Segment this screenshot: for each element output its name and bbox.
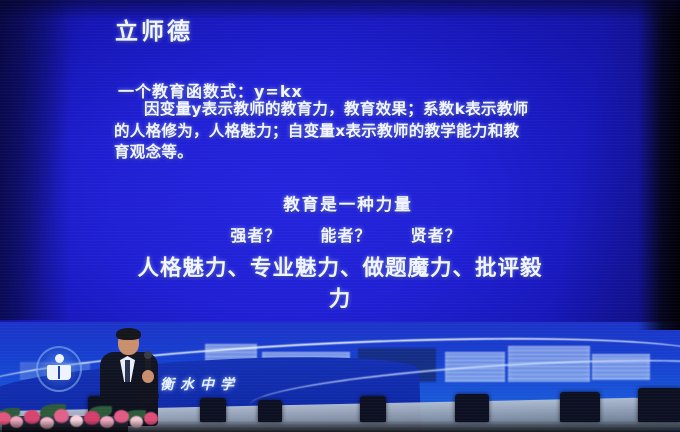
vignette-left [0,0,70,320]
stage-area: 北衡水中学 [0,322,680,432]
center-question-line: 强者？ 能者？ 贤者？ [0,222,680,246]
stage-monitor-2 [200,398,226,422]
paragraph-line-2: 的人格修为，人格魅力；自变量x表示教师的教学能力和教 [114,121,564,143]
paragraph-line-1: 因变量y表示教师的教育力，教育效果；系数k表示教师 [114,99,564,121]
stage-monitor-7 [638,388,680,422]
question-able: 能者？ [320,226,371,245]
stage-monitor-3 [258,400,282,422]
screenshot-root: 立师德 一个教育函数式：y=kx 因变量y表示教师的教育力，教育效果；系数k表示… [0,0,680,432]
school-emblem-icon [36,346,82,392]
question-wise: 贤者？ [411,226,462,245]
center-heading-line: 教育是一种力量 [0,191,680,215]
stage-monitor-5 [455,394,489,422]
stage-monitor-6 [560,392,600,422]
emphasis-line: 人格魅力、专业魅力、做题魔力、批评毅力 [130,253,550,315]
stage-front-shadow [0,420,680,432]
question-strong: 强者？ [230,226,281,245]
vignette-right [638,0,680,330]
stage-monitor-4 [360,396,386,422]
slide-paragraph: 因变量y表示教师的教育力，教育效果；系数k表示教师 的人格修为，人格魅力；自变量… [114,99,564,164]
paragraph-line-3: 育观念等。 [114,142,564,164]
vignette-top [0,0,680,20]
